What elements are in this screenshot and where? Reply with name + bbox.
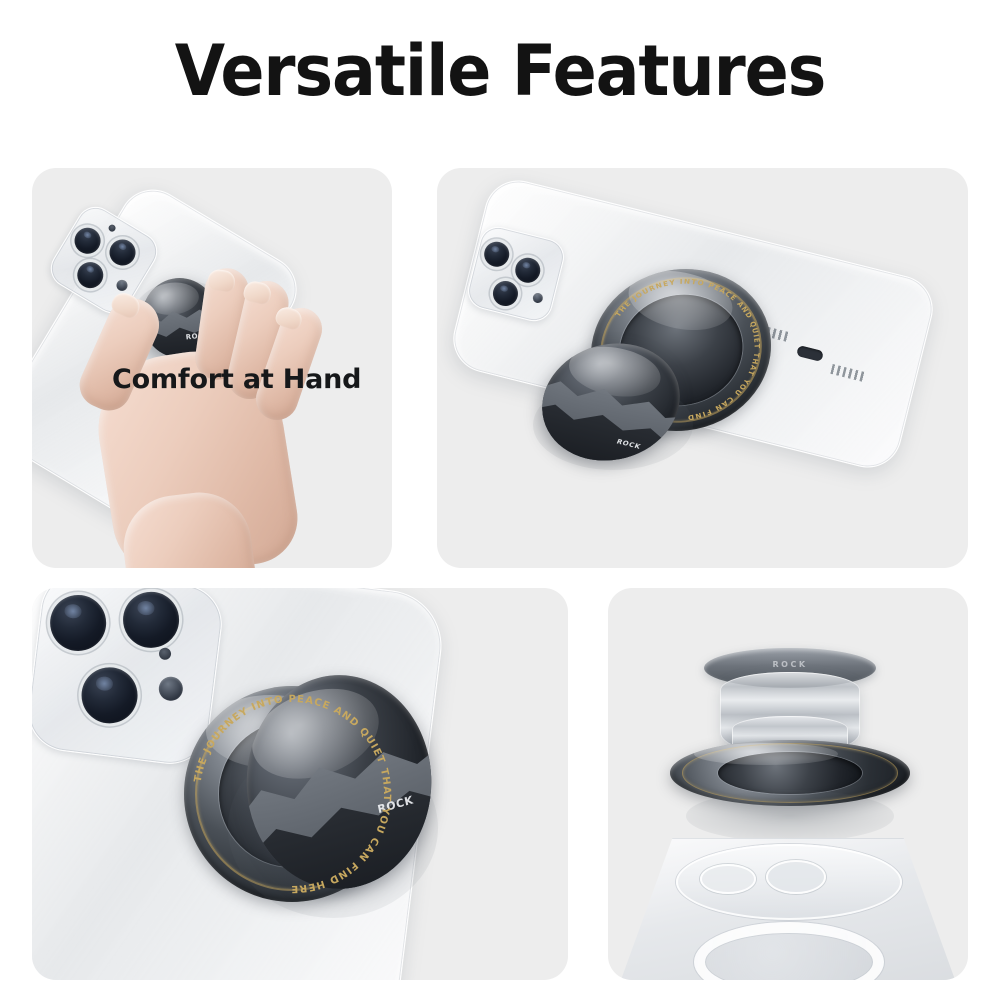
page-title: Versatile Features — [35, 36, 965, 106]
camera-lens — [513, 255, 543, 285]
ring-highlight — [694, 743, 838, 765]
rock-brand-mark: ROCK — [772, 660, 807, 669]
camera-lens — [47, 592, 109, 654]
camera-flash-icon — [532, 292, 544, 304]
camera-lens — [105, 235, 141, 271]
lidar-sensor-icon — [107, 223, 117, 233]
camera-lens — [72, 257, 108, 293]
camera-lens-ring — [700, 864, 756, 894]
product-feature-page: Versatile Features ROCK — [0, 0, 1000, 1000]
exploded-gap-shadow — [686, 790, 894, 842]
feature-panel-comfort-at-hand: ROCK Comfort at Hand — [32, 168, 392, 568]
feature-panel-support-at-ease: THE JOURNEY INTO PEACE AND QUIET THAT YO… — [437, 168, 968, 568]
camera-lens — [490, 278, 520, 308]
lidar-sensor-icon — [158, 647, 171, 660]
feature-panel-foldable-grip: ROCK Foldable Grip — [608, 588, 968, 980]
camera-flash-icon — [114, 278, 129, 293]
camera-lens-ring — [766, 860, 826, 894]
camera-flash-icon — [157, 675, 184, 702]
camera-lens — [482, 239, 512, 269]
camera-lens — [70, 223, 106, 259]
panel-label-comfort-at-hand: Comfort at Hand — [112, 364, 361, 395]
feature-panel-strong-magnet: THE JOURNEY INTO PEACE AND QUIET THAT YO… — [32, 588, 568, 980]
camera-lens — [78, 664, 140, 726]
camera-module — [676, 844, 902, 920]
camera-lens — [120, 589, 182, 651]
